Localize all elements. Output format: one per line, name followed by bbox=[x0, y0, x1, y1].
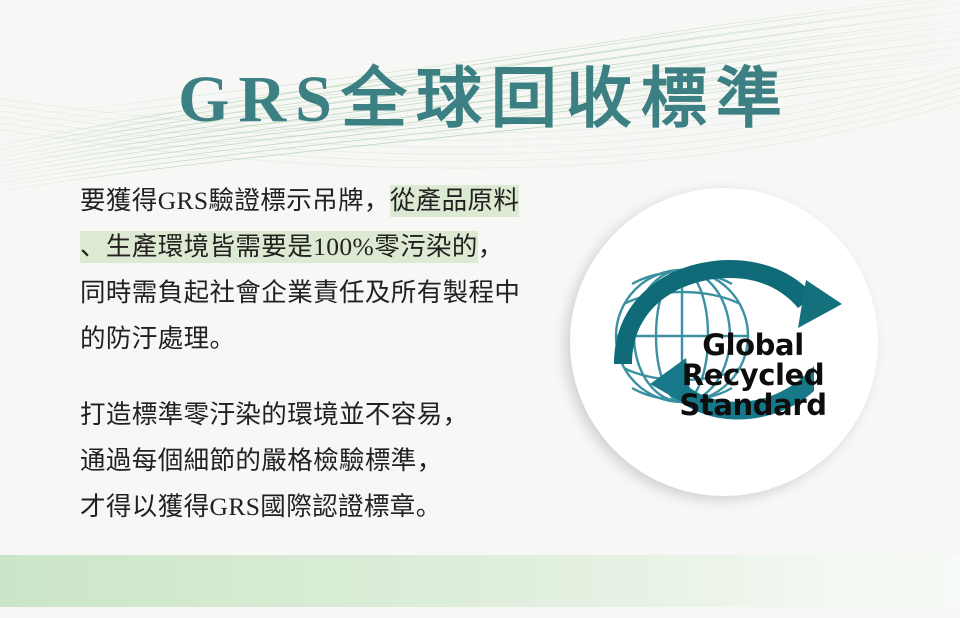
logo-wordmark-line-2: Standard bbox=[632, 391, 874, 421]
page-title-row: GRS全球回收標準 bbox=[0, 52, 960, 148]
text-plain: 要獲得GRS驗證標示吊牌， bbox=[80, 186, 390, 215]
paragraph-1-line-4: 的防汙處理。 bbox=[80, 316, 580, 362]
text-highlight: 從產品原料 bbox=[390, 185, 520, 217]
slide-canvas: GRS全球回收標準 要獲得GRS驗證標示吊牌，從產品原料 、生產環境皆需要是10… bbox=[0, 0, 960, 618]
page-title: GRS全球回收標準 bbox=[169, 67, 791, 133]
paragraph-1-line-3: 同時需負起社會企業責任及所有製程中 bbox=[80, 270, 580, 316]
paragraph-1: 要獲得GRS驗證標示吊牌，從產品原料 、生產環境皆需要是100%零污染的， 同時… bbox=[80, 178, 580, 362]
paragraph-1-line-1: 要獲得GRS驗證標示吊牌，從產品原料 bbox=[80, 178, 580, 224]
text-plain: ， bbox=[478, 232, 504, 261]
paragraph-2-line-1: 打造標準零汙染的環境並不容易， bbox=[80, 392, 580, 438]
logo-wordmark: Global Recycled Standard bbox=[632, 331, 874, 421]
text-highlight: 、生產環境皆需要是100%零污染的 bbox=[80, 231, 478, 263]
paragraph-2-line-2: 通過每個細節的嚴格檢驗標準， bbox=[80, 438, 580, 484]
body-copy: 要獲得GRS驗證標示吊牌，從產品原料 、生產環境皆需要是100%零污染的， 同時… bbox=[80, 178, 580, 530]
paragraph-2-line-3: 才得以獲得GRS國際認證標章。 bbox=[80, 484, 580, 530]
paragraph-2: 打造標準零汙染的環境並不容易， 通過每個細節的嚴格檢驗標準， 才得以獲得GRS國… bbox=[80, 392, 580, 530]
paragraph-1-line-2: 、生產環境皆需要是100%零污染的， bbox=[80, 224, 580, 270]
grs-logo-badge: Global Recycled Standard bbox=[570, 188, 878, 496]
bottom-green-band bbox=[0, 555, 960, 607]
logo-wordmark-line-1: Global Recycled bbox=[632, 331, 874, 391]
